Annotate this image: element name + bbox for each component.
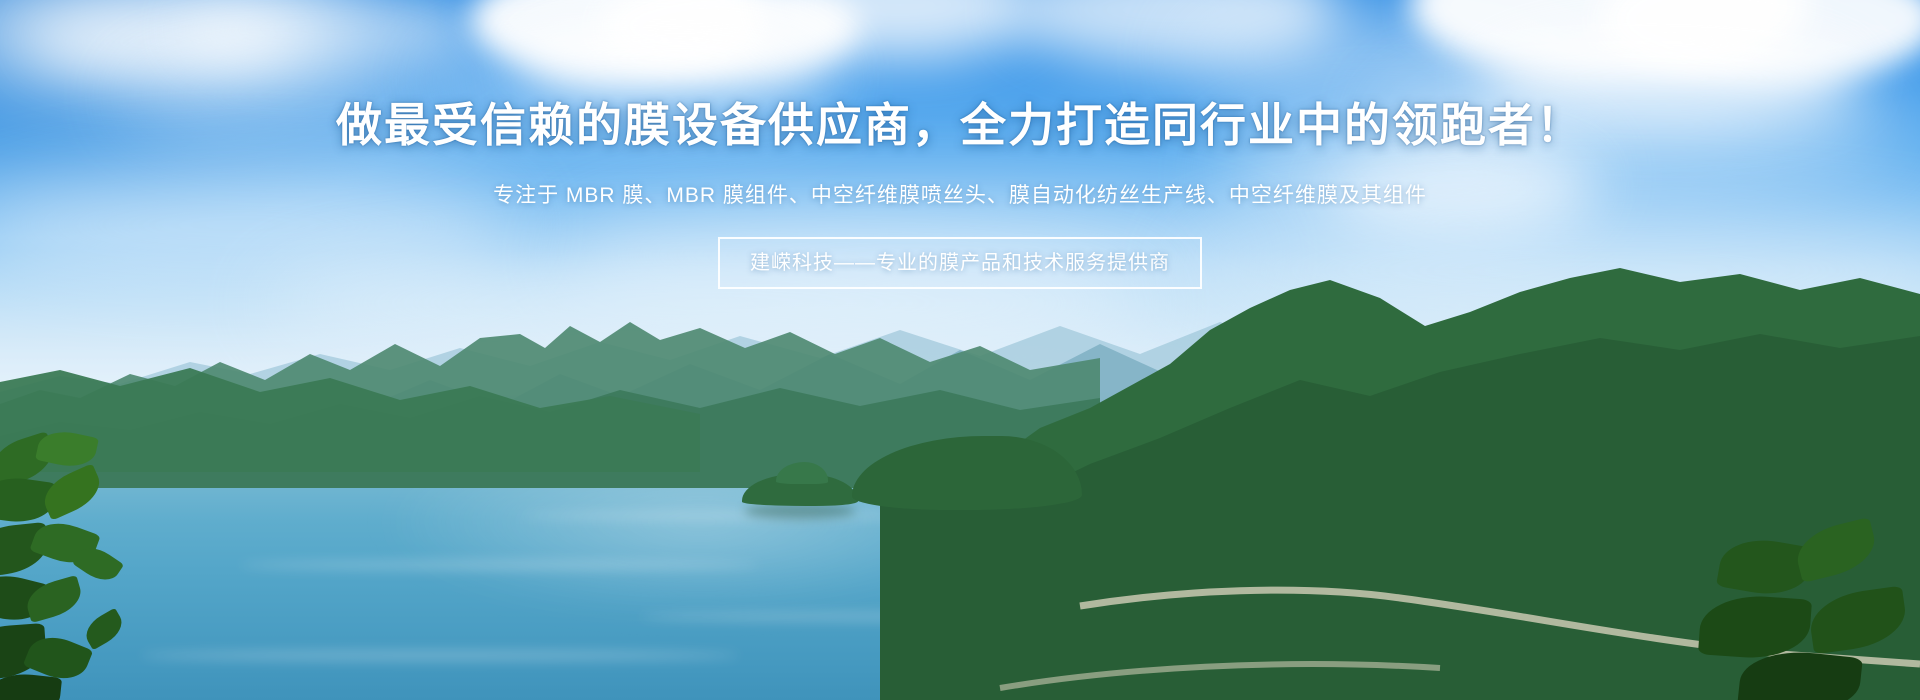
banner-subtitle: 专注于 MBR 膜、MBR 膜组件、中空纤维膜喷丝头、膜自动化纺丝生产线、中空纤… xyxy=(0,153,1920,210)
banner-tagline-box: 建嵘科技——专业的膜产品和技术服务提供商 xyxy=(718,237,1202,289)
banner-tagline-wrapper: 建嵘科技——专业的膜产品和技术服务提供商 xyxy=(0,237,1920,289)
banner-headline: 做最受信赖的膜设备供应商，全力打造同行业中的领跑者！ xyxy=(0,0,1920,153)
banner-content: 做最受信赖的膜设备供应商，全力打造同行业中的领跑者！ 专注于 MBR 膜、MBR… xyxy=(0,0,1920,289)
foreground-foliage xyxy=(0,430,210,700)
hero-banner: 做最受信赖的膜设备供应商，全力打造同行业中的领跑者！ 专注于 MBR 膜、MBR… xyxy=(0,0,1920,700)
foreground-foliage-right xyxy=(1700,520,1920,700)
